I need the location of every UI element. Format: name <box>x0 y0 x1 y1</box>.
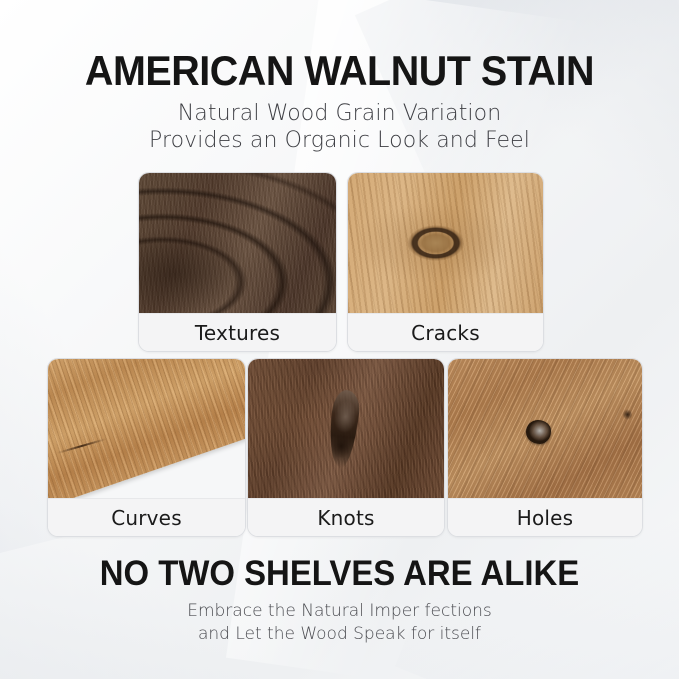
page-subtitle: Natural Wood Grain Variation Provides an… <box>0 100 679 154</box>
page-subtitle-line-2: Provides an Organic Look and Feel <box>0 127 679 154</box>
feature-card-curves[interactable]: Curves <box>47 358 246 537</box>
feature-card-holes[interactable]: Holes <box>447 358 643 537</box>
feature-card-label: Knots <box>248 498 444 536</box>
wood-grain-texture <box>248 359 444 498</box>
wood-knot-mark <box>326 388 363 469</box>
feature-card-textures[interactable]: Textures <box>138 172 337 352</box>
feature-image-holes <box>448 359 642 498</box>
wood-grain-texture <box>139 173 336 313</box>
wood-plank-shape <box>48 359 245 498</box>
infographic-canvas: AMERICAN WALNUT STAIN Natural Wood Grain… <box>0 0 679 679</box>
page-title: AMERICAN WALNUT STAIN <box>20 48 658 94</box>
feature-image-textures <box>139 173 336 313</box>
wood-grain-texture <box>348 173 543 313</box>
wood-grain-texture <box>448 359 642 498</box>
footer-title: NO TWO SHELVES ARE ALIKE <box>20 555 658 593</box>
wood-hole-mark <box>526 420 551 444</box>
wood-hole-mark-secondary <box>623 409 633 420</box>
page-subtitle-line-1: Natural Wood Grain Variation <box>0 100 679 127</box>
footer-subtitle-line-1: Embrace the Natural Imper fections <box>0 600 679 623</box>
feature-card-knots[interactable]: Knots <box>247 358 445 537</box>
feature-card-cracks[interactable]: Cracks <box>347 172 544 352</box>
footer-subtitle: Embrace the Natural Imper fections and L… <box>0 600 679 646</box>
feature-card-label: Textures <box>139 313 336 351</box>
feature-image-curves <box>48 359 245 498</box>
feature-card-label: Holes <box>448 498 642 536</box>
footer-subtitle-line-2: and Let the Wood Speak for itself <box>0 623 679 646</box>
feature-image-cracks <box>348 173 543 313</box>
feature-card-label: Cracks <box>348 313 543 351</box>
feature-image-knots <box>248 359 444 498</box>
feature-card-label: Curves <box>48 498 245 536</box>
